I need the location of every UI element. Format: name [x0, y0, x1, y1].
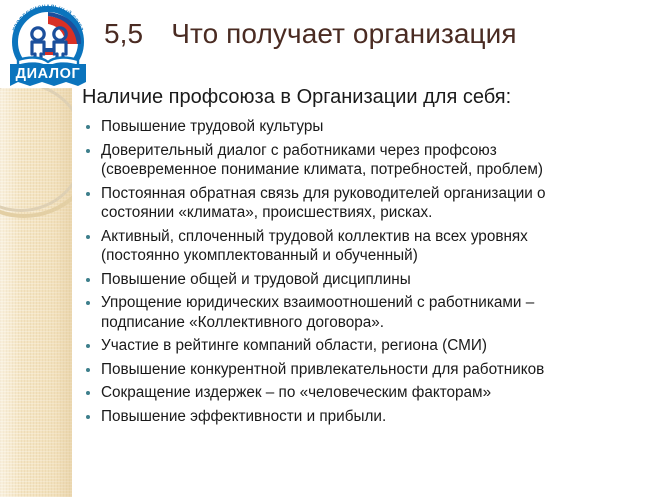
list-item-line1: Участие в рейтинге компаний области, рег…	[101, 337, 487, 354]
list-item-line1: Упрощение юридических взаимоотношений с …	[101, 294, 534, 311]
list-item: Повышение конкурентной привлекательности…	[78, 360, 664, 380]
bullet-dot-icon	[86, 149, 90, 153]
list-item: Повышение эффективности и прибыли.	[78, 407, 664, 427]
list-item: Активный, сплоченный трудовой коллектив …	[78, 227, 664, 266]
slide-body: Наличие профсоюза в Организации для себя…	[78, 84, 664, 430]
list-item-line1: Доверительный диалог с работниками через…	[101, 142, 497, 159]
decorative-left-band	[0, 88, 72, 497]
list-item-line1: Повышение конкурентной привлекательности…	[101, 361, 544, 378]
list-item-line2: (постоянно укомплектованный и обученный)	[101, 246, 664, 266]
list-item-line1: Повышение трудовой культуры	[101, 118, 323, 135]
benefits-list: Повышение трудовой культуры Доверительны…	[78, 117, 664, 426]
list-item-line1: Повышение общей и трудовой дисциплины	[101, 271, 411, 288]
bullet-dot-icon	[86, 368, 90, 372]
bullet-dot-icon	[86, 391, 90, 395]
band-shading	[0, 88, 72, 497]
dialog-logo: ДИАЛОГ ПРОФЕССИОНАЛЬНЫЙ СОЮЗ	[4, 2, 92, 88]
bullet-dot-icon	[86, 344, 90, 348]
list-item: Упрощение юридических взаимоотношений с …	[78, 293, 664, 332]
list-item: Доверительный диалог с работниками через…	[78, 141, 664, 180]
list-item-line1: Активный, сплоченный трудовой коллектив …	[101, 228, 528, 245]
band-texture	[0, 88, 72, 497]
list-item-line1: Постоянная обратная связь для руководите…	[101, 185, 546, 202]
bullet-dot-icon	[86, 278, 90, 282]
slide-title-text: Что получает организация	[171, 18, 516, 49]
slide-number: 5,5	[104, 18, 143, 49]
bullet-dot-icon	[86, 192, 90, 196]
list-item-line2: состоянии «климата», происшествиях, риск…	[101, 203, 664, 223]
logo-wordmark: ДИАЛОГ	[16, 66, 81, 82]
list-item-line1: Сокращение издержек – по «человеческим ф…	[101, 384, 491, 401]
slide-subtitle: Наличие профсоюза в Организации для себя…	[82, 84, 664, 110]
slide-canvas: ДИАЛОГ ПРОФЕССИОНАЛЬНЫЙ СОЮЗ 5,5Что полу…	[0, 0, 664, 497]
list-item-line2: (своевременное понимание климата, потреб…	[101, 160, 664, 180]
bullet-dot-icon	[86, 235, 90, 239]
list-item-line1: Повышение эффективности и прибыли.	[101, 408, 386, 425]
list-item: Повышение трудовой культуры	[78, 117, 664, 137]
list-item: Повышение общей и трудовой дисциплины	[78, 270, 664, 290]
list-item-line2: подписание «Коллективного договора».	[101, 313, 664, 333]
list-item: Участие в рейтинге компаний области, рег…	[78, 336, 664, 356]
list-item: Постоянная обратная связь для руководите…	[78, 184, 664, 223]
bullet-dot-icon	[86, 415, 90, 419]
list-item: Сокращение издержек – по «человеческим ф…	[78, 383, 664, 403]
bullet-dot-icon	[86, 301, 90, 305]
page-title: 5,5Что получает организация	[104, 17, 517, 51]
bullet-dot-icon	[86, 125, 90, 129]
